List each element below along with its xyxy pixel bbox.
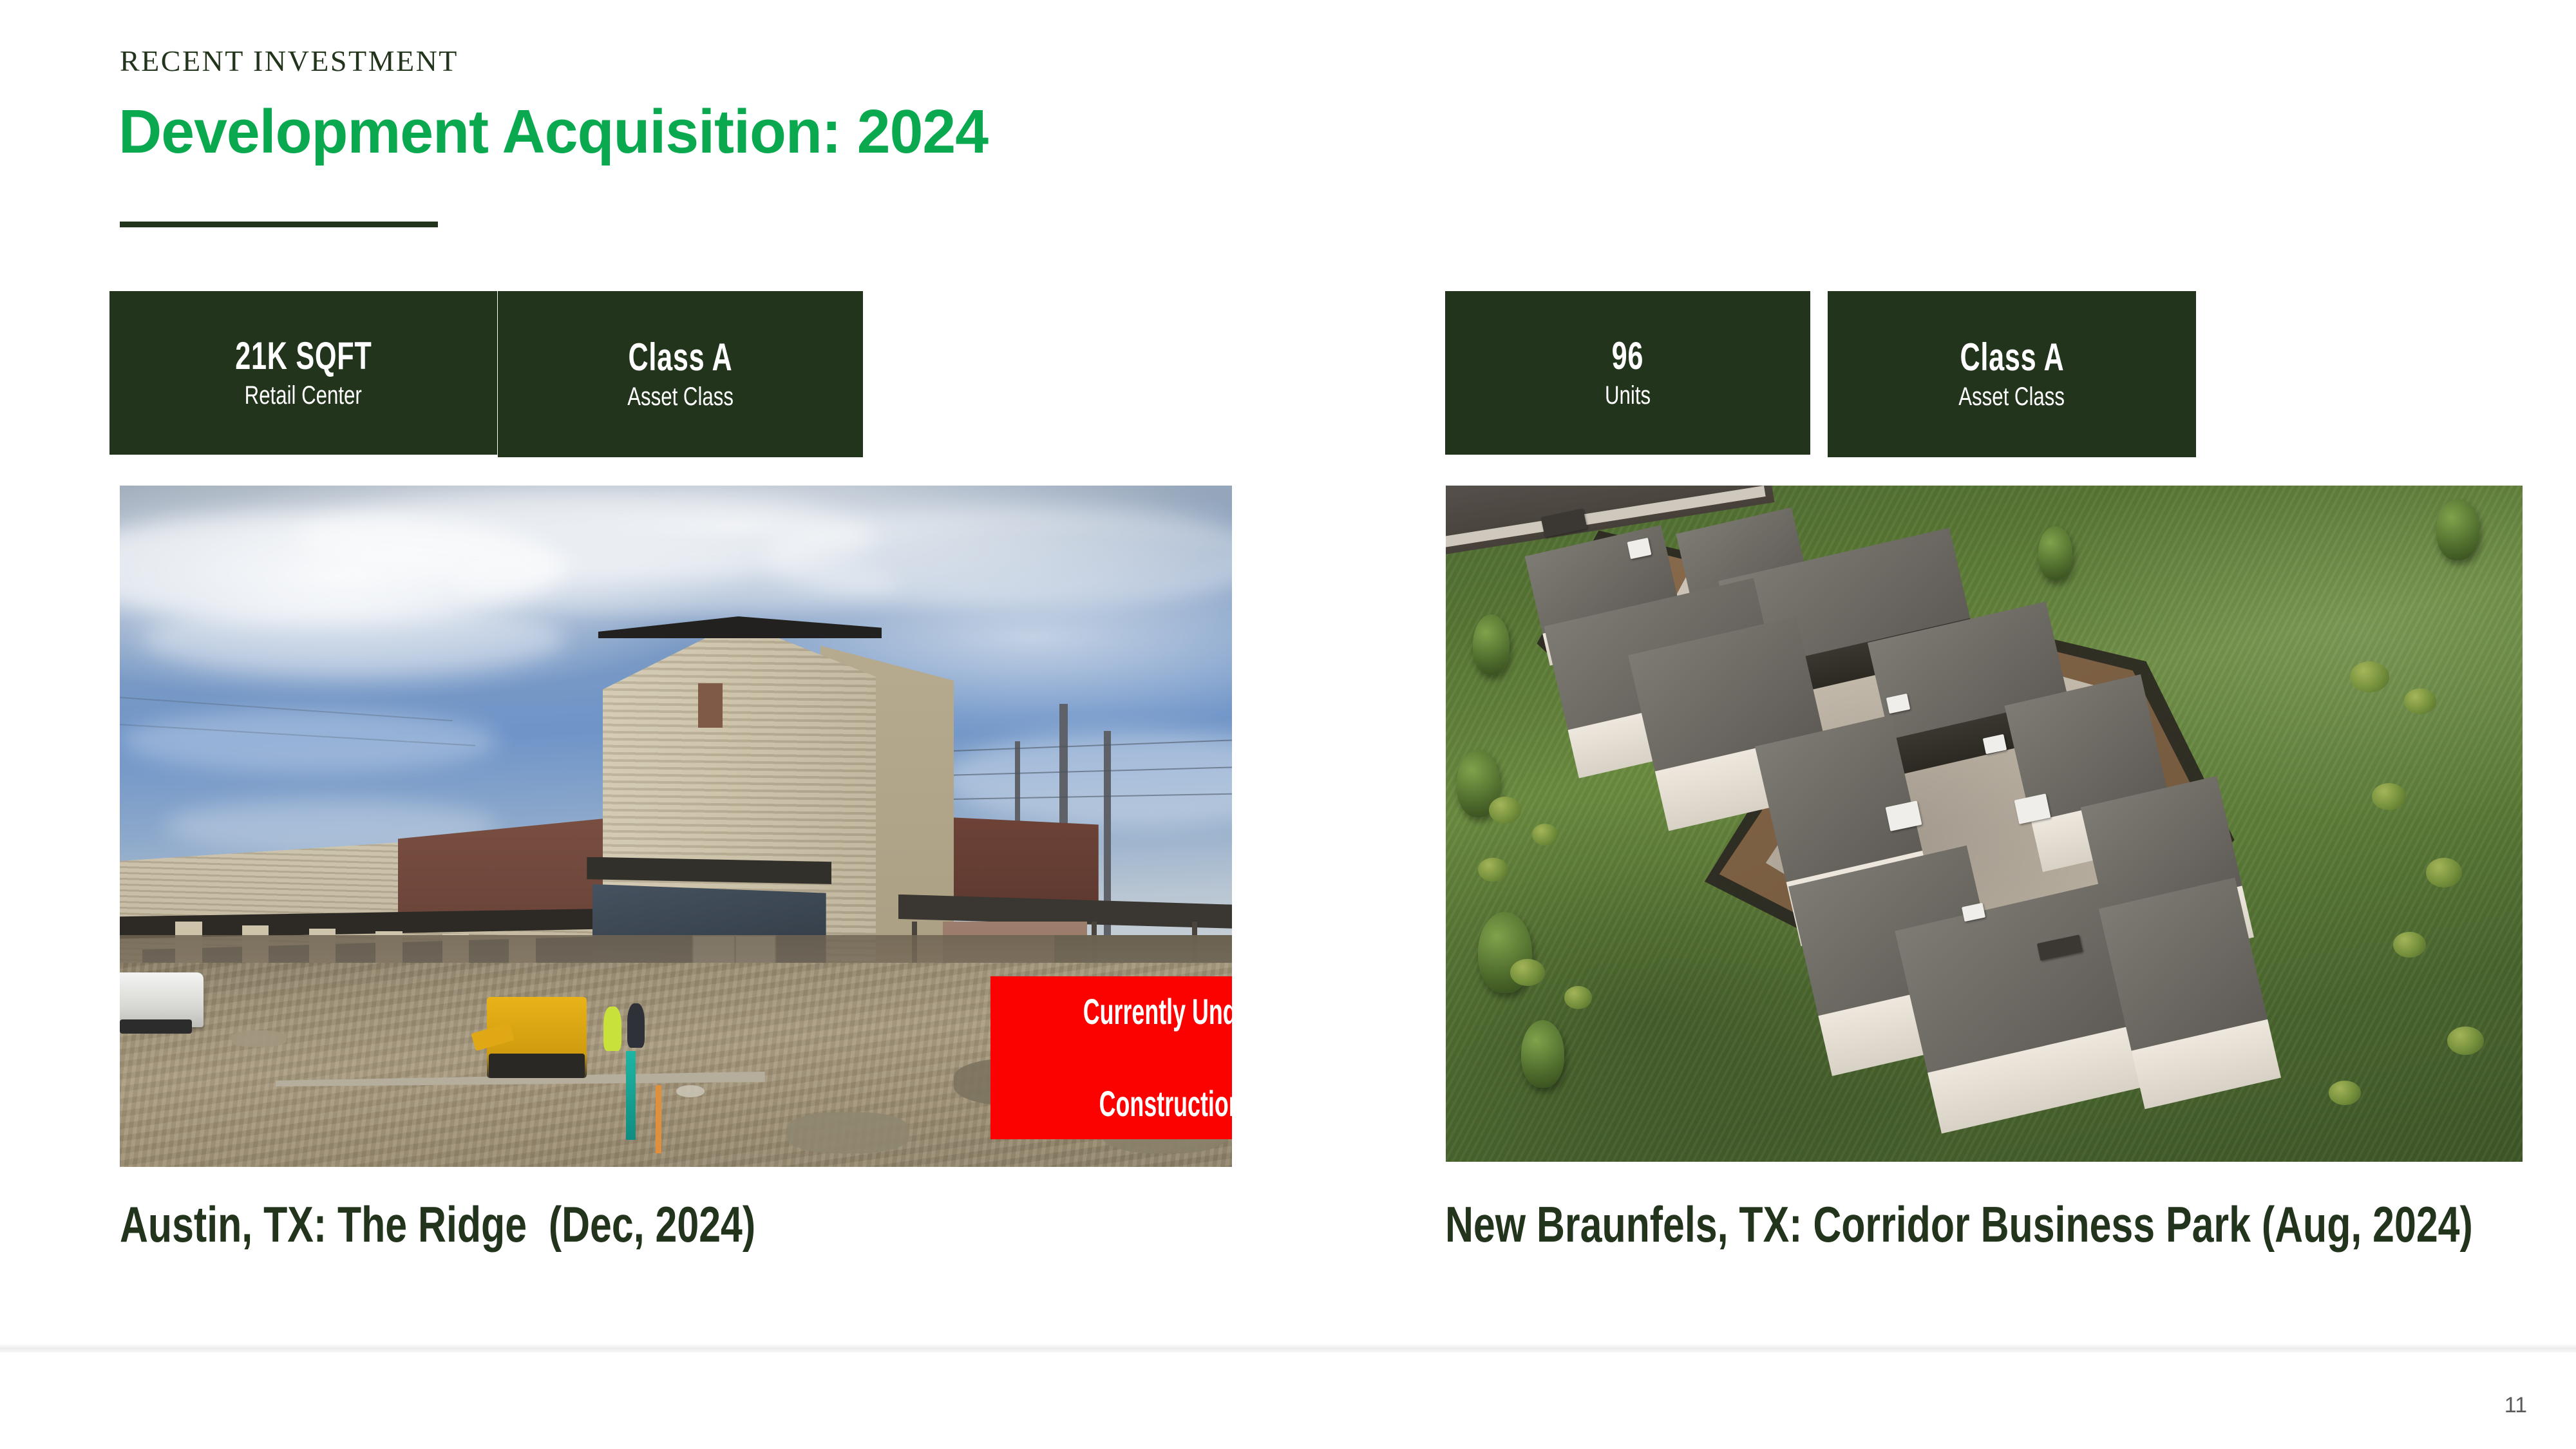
badge-line-2: Construction (1083, 1081, 1232, 1127)
cloud (142, 601, 565, 676)
footer-divider (0, 1343, 2576, 1352)
property-photo-new-braunfels: Currently Under Construction (1446, 486, 2523, 1162)
teal-marker-post (626, 1051, 636, 1140)
tree (2436, 499, 2479, 560)
photo-caption-new-braunfels: New Braunfels, TX: Corridor Business Par… (1445, 1199, 2473, 1249)
stat-label: Asset Class (627, 381, 734, 412)
white-pickup-truck (120, 972, 204, 1027)
slide: RECENT INVESTMENT Development Acquisitio… (0, 0, 2576, 1449)
page-number: 11 (2505, 1394, 2527, 1416)
gable-vent (698, 683, 723, 728)
stat-label: Asset Class (1959, 381, 2065, 412)
bush (2350, 661, 2389, 692)
status-badge-austin: Currently Under Construction (990, 976, 1232, 1139)
bush (2426, 858, 2463, 887)
rubble-pile (787, 1112, 909, 1153)
bush (2393, 932, 2425, 958)
manhole-cover (676, 1085, 705, 1097)
stat-label: Units (1605, 380, 1651, 411)
orange-stake (656, 1085, 661, 1153)
stat-card-asset-class-right: Class A Asset Class (1828, 291, 2196, 457)
tree (1473, 614, 1510, 676)
badge-line-1: Currently Under (1083, 989, 1232, 1035)
stat-value: Class A (629, 337, 733, 377)
bush (1532, 824, 1558, 846)
stat-value: 96 (1612, 336, 1644, 376)
skid-steer-loader (487, 997, 587, 1079)
photo-caption-austin: Austin, TX: The Ridge (Dec, 2024) (120, 1199, 755, 1249)
bush (2329, 1081, 2361, 1105)
bush (2372, 783, 2407, 810)
tree (2038, 526, 2073, 580)
bush (1478, 858, 1508, 882)
stat-card-units: 96 Units (1445, 291, 1810, 455)
bush (1510, 959, 1545, 986)
bush (1564, 986, 1592, 1009)
stat-card-asset-class-left: Class A Asset Class (498, 291, 863, 457)
bush (2404, 688, 2436, 714)
material-bundle (231, 1030, 287, 1046)
construction-worker (603, 1007, 621, 1051)
property-photo-austin: Currently Under Construction (120, 486, 1232, 1167)
eyebrow-label: RECENT INVESTMENT (120, 46, 459, 76)
tree (1521, 1020, 1564, 1088)
bush (1489, 797, 1521, 824)
page-title: Development Acquisition: 2024 (118, 97, 988, 167)
bush (2447, 1027, 2484, 1055)
construction-worker (627, 1003, 645, 1048)
stat-label: Retail Center (245, 380, 362, 411)
stat-value: Class A (1960, 337, 2064, 377)
title-accent-bar (120, 222, 438, 227)
stat-card-sqft: 21K SQFT Retail Center (109, 291, 497, 455)
stat-value: 21K SQFT (235, 336, 372, 376)
